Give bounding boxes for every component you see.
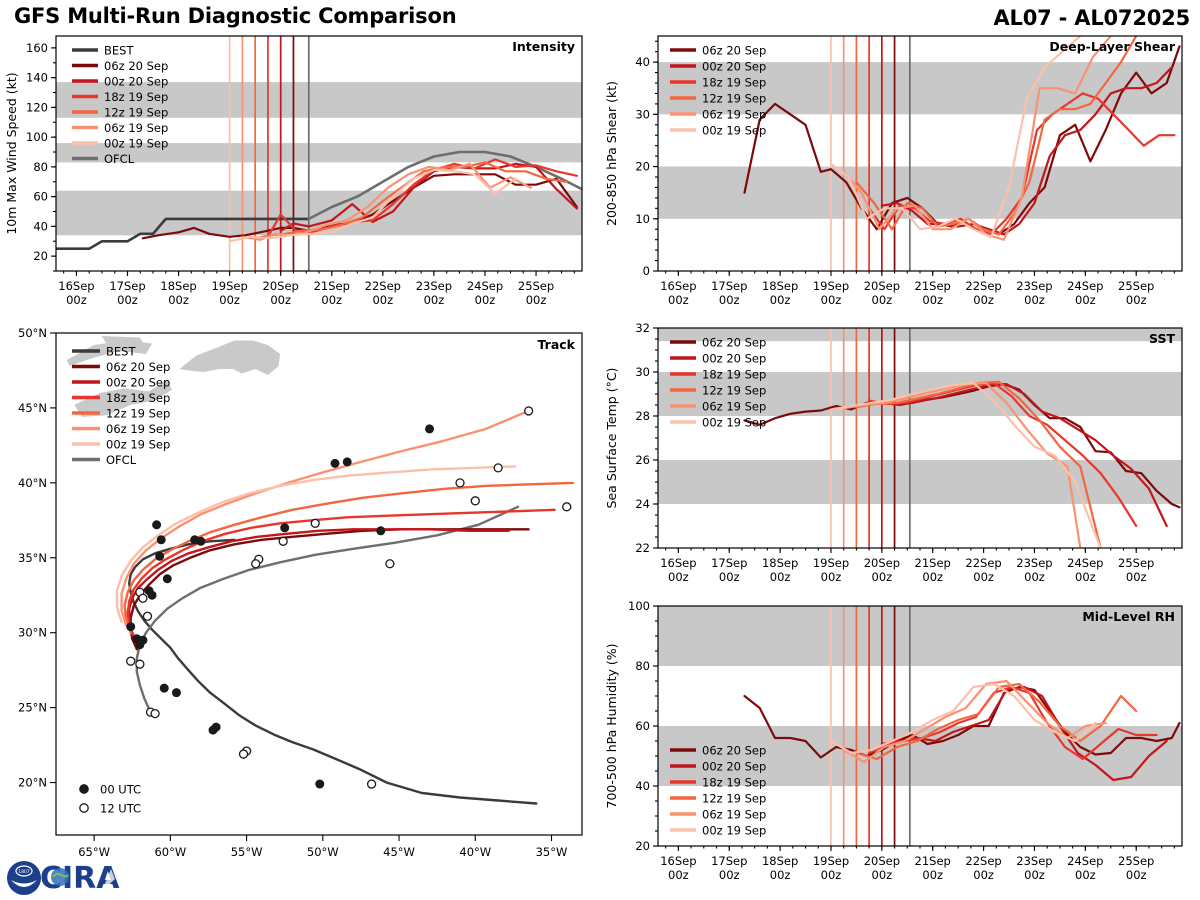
y-tick-label: 30 [635, 365, 650, 379]
lat-tick-label: 40°N [18, 476, 47, 490]
x-tick-hour: 00z [668, 293, 689, 307]
y-tick-label: 30 [635, 107, 650, 121]
track-marker-12utc [240, 750, 248, 758]
legend-label: 00z 19 Sep [702, 124, 766, 138]
marker-legend-label: 12 UTC [100, 802, 141, 816]
track-marker-00utc [343, 458, 351, 466]
legend-label: 00z 19 Sep [702, 416, 766, 430]
y-tick-label: 20 [635, 160, 650, 174]
x-tick-date: 19Sep [813, 556, 849, 570]
x-tick-date: 17Sep [711, 279, 747, 293]
rh-panel: 2040608010016Sep00z17Sep00z18Sep00z19Sep… [600, 598, 1200, 898]
x-tick-hour: 00z [66, 293, 87, 307]
lon-tick-label: 55°W [231, 845, 263, 859]
x-tick-date: 19Sep [211, 279, 247, 293]
x-tick-date: 23Sep [1016, 556, 1052, 570]
y-tick-label: 22 [635, 541, 650, 555]
x-tick-date: 19Sep [813, 279, 849, 293]
legend-label: BEST [104, 44, 134, 58]
x-tick-hour: 00z [872, 868, 893, 882]
track-marker-12utc [127, 657, 135, 665]
panel-title: Track [538, 337, 576, 352]
track-marker-12utc [456, 479, 464, 487]
legend-label: OFCL [106, 453, 137, 467]
track-marker-00utc [163, 575, 171, 583]
x-tick-date: 21Sep [915, 556, 951, 570]
x-tick-hour: 00z [821, 570, 842, 584]
y-tick-label: 0 [643, 264, 650, 278]
legend-label: 12z 19 Sep [104, 106, 168, 120]
x-tick-hour: 00z [872, 570, 893, 584]
track-marker-12utc [252, 560, 260, 568]
x-tick-date: 23Sep [1016, 279, 1052, 293]
lat-tick-label: 45°N [18, 401, 47, 415]
y-tick-label: 40 [635, 779, 650, 793]
y-tick-label: 24 [635, 497, 650, 511]
legend-label: 00z 20 Sep [702, 352, 766, 366]
svg-text:1807: 1807 [18, 869, 30, 875]
y-tick-label: 100 [26, 130, 48, 144]
cira-logo: CIRA [40, 861, 132, 895]
x-tick-date: 16Sep [58, 279, 94, 293]
lat-tick-label: 25°N [18, 701, 47, 715]
panel-title: Intensity [512, 39, 575, 54]
x-tick-hour: 00z [668, 570, 689, 584]
lon-tick-label: 60°W [154, 845, 186, 859]
track-marker-00utc [331, 459, 339, 467]
x-tick-hour: 00z [668, 868, 689, 882]
legend-label: 18z 19 Sep [104, 90, 168, 104]
sst-plot: 22242628303216Sep00z17Sep00z18Sep00z19Se… [600, 320, 1200, 600]
x-tick-hour: 00z [719, 293, 740, 307]
x-tick-hour: 00z [321, 293, 342, 307]
track-marker-12utc [311, 519, 319, 527]
track-marker-12utc [143, 612, 151, 620]
x-tick-hour: 00z [922, 570, 943, 584]
lon-tick-label: 40°W [459, 845, 491, 859]
legend-label: 06z 20 Sep [702, 44, 766, 58]
legend-label: 06z 20 Sep [106, 360, 170, 374]
y-axis-label: 200-850 hPa Shear (kt) [604, 81, 619, 226]
x-tick-date: 24Sep [1067, 556, 1103, 570]
x-tick-hour: 00z [922, 293, 943, 307]
y-tick-label: 20 [33, 249, 48, 263]
x-tick-hour: 00z [770, 293, 791, 307]
track-panel: 20°N25°N30°N35°N40°N45°N50°N65°W60°W55°W… [0, 325, 600, 895]
y-tick-label: 28 [635, 409, 650, 423]
marker-legend-00utc-icon [80, 785, 88, 793]
legend-label: 06z 19 Sep [702, 400, 766, 414]
x-tick-hour: 00z [770, 868, 791, 882]
track-marker-00utc [426, 425, 434, 433]
track-marker-00utc [172, 689, 180, 697]
track-marker-12utc [139, 594, 147, 602]
x-tick-hour: 00z [1024, 293, 1045, 307]
track-line [117, 466, 515, 622]
y-tick-label: 40 [635, 55, 650, 69]
x-tick-hour: 00z [973, 570, 994, 584]
track-marker-00utc [209, 726, 217, 734]
coastline-landmass [180, 341, 281, 376]
lat-tick-label: 50°N [18, 326, 47, 340]
y-tick-label: 160 [26, 41, 48, 55]
track-marker-00utc [197, 537, 205, 545]
y-tick-label: 60 [635, 719, 650, 733]
x-tick-date: 25Sep [1118, 854, 1154, 868]
track-marker-00utc [281, 524, 289, 532]
x-tick-hour: 00z [424, 293, 445, 307]
lat-tick-label: 20°N [18, 776, 47, 790]
legend-label: 00z 19 Sep [702, 824, 766, 838]
legend-label: BEST [106, 345, 136, 359]
lon-tick-label: 65°W [78, 845, 110, 859]
x-tick-date: 17Sep [109, 279, 145, 293]
legend-label: 00z 19 Sep [104, 137, 168, 151]
x-tick-date: 20Sep [864, 854, 900, 868]
x-tick-hour: 00z [719, 868, 740, 882]
x-tick-date: 25Sep [1118, 556, 1154, 570]
x-tick-date: 16Sep [660, 279, 696, 293]
legend-label: 18z 19 Sep [702, 368, 766, 382]
track-marker-12utc [368, 780, 376, 788]
y-tick-label: 10 [635, 212, 650, 226]
x-tick-hour: 00z [1075, 868, 1096, 882]
track-marker-00utc [153, 521, 161, 529]
x-tick-date: 20Sep [864, 279, 900, 293]
value-band [658, 460, 1182, 504]
x-tick-date: 22Sep [965, 556, 1001, 570]
x-tick-hour: 00z [1126, 293, 1147, 307]
x-tick-hour: 00z [922, 868, 943, 882]
legend-label: 18z 19 Sep [702, 76, 766, 90]
track-marker-12utc [151, 710, 159, 718]
y-tick-label: 40 [33, 219, 48, 233]
track-marker-12utc [386, 560, 394, 568]
track-marker-00utc [157, 536, 165, 544]
track-marker-12utc [471, 497, 479, 505]
x-tick-hour: 00z [821, 868, 842, 882]
storm-id-label: AL07 - AL072025 [993, 6, 1190, 30]
legend-label: 12z 19 Sep [106, 407, 170, 421]
x-tick-date: 24Sep [1067, 279, 1103, 293]
y-tick-label: 20 [635, 839, 650, 853]
x-tick-hour: 00z [219, 293, 240, 307]
legend-label: 18z 19 Sep [106, 391, 170, 405]
legend-label: 18z 19 Sep [702, 776, 766, 790]
y-tick-label: 100 [628, 599, 650, 613]
track-marker-12utc [279, 537, 287, 545]
x-tick-hour: 00z [475, 293, 496, 307]
page-title: GFS Multi-Run Diagnostic Comparison [14, 4, 456, 28]
marker-legend-12utc-icon [80, 804, 88, 812]
x-tick-date: 20Sep [263, 279, 299, 293]
y-tick-label: 60 [33, 190, 48, 204]
x-tick-date: 18Sep [762, 556, 798, 570]
track-marker-00utc [156, 552, 164, 560]
x-tick-date: 22Sep [365, 279, 401, 293]
x-tick-date: 22Sep [965, 279, 1001, 293]
y-tick-label: 80 [33, 160, 48, 174]
legend-label: 00z 20 Sep [106, 376, 170, 390]
x-tick-date: 16Sep [660, 556, 696, 570]
y-tick-label: 32 [635, 321, 650, 335]
track-marker-00utc [127, 623, 135, 631]
y-tick-label: 80 [635, 659, 650, 673]
legend-label: 12z 19 Sep [702, 792, 766, 806]
y-tick-label: 26 [635, 453, 650, 467]
lon-tick-label: 35°W [536, 845, 568, 859]
track-line [129, 540, 536, 804]
x-tick-hour: 00z [526, 293, 547, 307]
x-tick-hour: 00z [1126, 570, 1147, 584]
sst-panel: 22242628303216Sep00z17Sep00z18Sep00z19Se… [600, 320, 1200, 600]
legend-label: 00z 20 Sep [702, 60, 766, 74]
panel-title: Mid-Level RH [1082, 609, 1175, 624]
x-tick-hour: 00z [872, 293, 893, 307]
x-tick-date: 18Sep [160, 279, 196, 293]
x-tick-date: 17Sep [711, 854, 747, 868]
legend-label: 12z 19 Sep [702, 384, 766, 398]
y-tick-label: 120 [26, 100, 48, 114]
shear-panel: 01020304016Sep00z17Sep00z18Sep00z19Sep00… [600, 28, 1200, 323]
x-tick-date: 22Sep [965, 854, 1001, 868]
x-tick-hour: 00z [973, 868, 994, 882]
track-marker-00utc [160, 684, 168, 692]
x-tick-date: 23Sep [1016, 854, 1052, 868]
track-marker-12utc [563, 503, 571, 511]
x-tick-date: 17Sep [711, 556, 747, 570]
legend-label: 06z 19 Sep [702, 108, 766, 122]
legend-label: 00z 19 Sep [106, 438, 170, 452]
x-tick-hour: 00z [821, 293, 842, 307]
intensity-plot: 2040608010012014016016Sep00z17Sep00z18Se… [0, 28, 600, 323]
x-tick-date: 18Sep [762, 854, 798, 868]
noaa-logo: 1807 [6, 860, 42, 896]
track-plot: 20°N25°N30°N35°N40°N45°N50°N65°W60°W55°W… [0, 325, 600, 895]
x-tick-date: 21Sep [915, 279, 951, 293]
x-tick-date: 25Sep [518, 279, 554, 293]
x-tick-hour: 00z [168, 293, 189, 307]
x-tick-hour: 00z [1024, 570, 1045, 584]
rh-plot: 2040608010016Sep00z17Sep00z18Sep00z19Sep… [600, 598, 1200, 898]
legend-label: 06z 19 Sep [106, 422, 170, 436]
marker-legend-label: 00 UTC [100, 783, 141, 797]
track-marker-00utc [148, 591, 156, 599]
x-tick-date: 19Sep [813, 854, 849, 868]
y-axis-label: 700-500 hPa Humidity (%) [604, 643, 619, 808]
track-marker-12utc [494, 464, 502, 472]
x-tick-date: 25Sep [1118, 279, 1154, 293]
lon-tick-label: 45°W [383, 845, 415, 859]
x-tick-hour: 00z [372, 293, 393, 307]
legend-label: 06z 20 Sep [104, 59, 168, 73]
x-tick-hour: 00z [1075, 570, 1096, 584]
track-marker-00utc [136, 641, 144, 649]
x-tick-date: 21Sep [314, 279, 350, 293]
x-tick-date: 20Sep [864, 556, 900, 570]
legend-label: 06z 19 Sep [104, 121, 168, 135]
x-tick-hour: 00z [1024, 868, 1045, 882]
x-tick-hour: 00z [1126, 868, 1147, 882]
x-tick-hour: 00z [1075, 293, 1096, 307]
lat-tick-label: 30°N [18, 626, 47, 640]
x-tick-hour: 00z [973, 293, 994, 307]
x-tick-date: 16Sep [660, 854, 696, 868]
x-tick-date: 21Sep [915, 854, 951, 868]
legend-label: 00z 20 Sep [702, 760, 766, 774]
track-marker-00utc [377, 527, 385, 535]
intensity-panel: 2040608010012014016016Sep00z17Sep00z18Se… [0, 28, 600, 323]
x-tick-date: 24Sep [467, 279, 503, 293]
panel-title: Deep-Layer Shear [1049, 39, 1175, 54]
x-tick-date: 23Sep [416, 279, 452, 293]
y-axis-label: Sea Surface Temp (°C) [604, 368, 619, 509]
x-tick-hour: 00z [117, 293, 138, 307]
x-tick-hour: 00z [770, 570, 791, 584]
x-tick-hour: 00z [270, 293, 291, 307]
track-marker-12utc [525, 407, 533, 415]
panel-title: SST [1149, 331, 1175, 346]
legend-label: 12z 19 Sep [702, 92, 766, 106]
y-tick-label: 140 [26, 71, 48, 85]
legend-label: 06z 20 Sep [702, 336, 766, 350]
legend-label: 06z 19 Sep [702, 808, 766, 822]
legend-label: OFCL [104, 152, 135, 166]
legend-label: 00z 20 Sep [104, 75, 168, 89]
x-tick-date: 18Sep [762, 279, 798, 293]
y-axis-label: 10m Max Wind Speed (kt) [4, 72, 19, 234]
x-tick-date: 24Sep [1067, 854, 1103, 868]
lon-tick-label: 50°W [307, 845, 339, 859]
shear-plot: 01020304016Sep00z17Sep00z18Sep00z19Sep00… [600, 28, 1200, 323]
lat-tick-label: 35°N [18, 551, 47, 565]
x-tick-hour: 00z [719, 570, 740, 584]
legend-label: 06z 20 Sep [702, 744, 766, 758]
track-marker-00utc [316, 780, 324, 788]
track-marker-12utc [136, 660, 144, 668]
